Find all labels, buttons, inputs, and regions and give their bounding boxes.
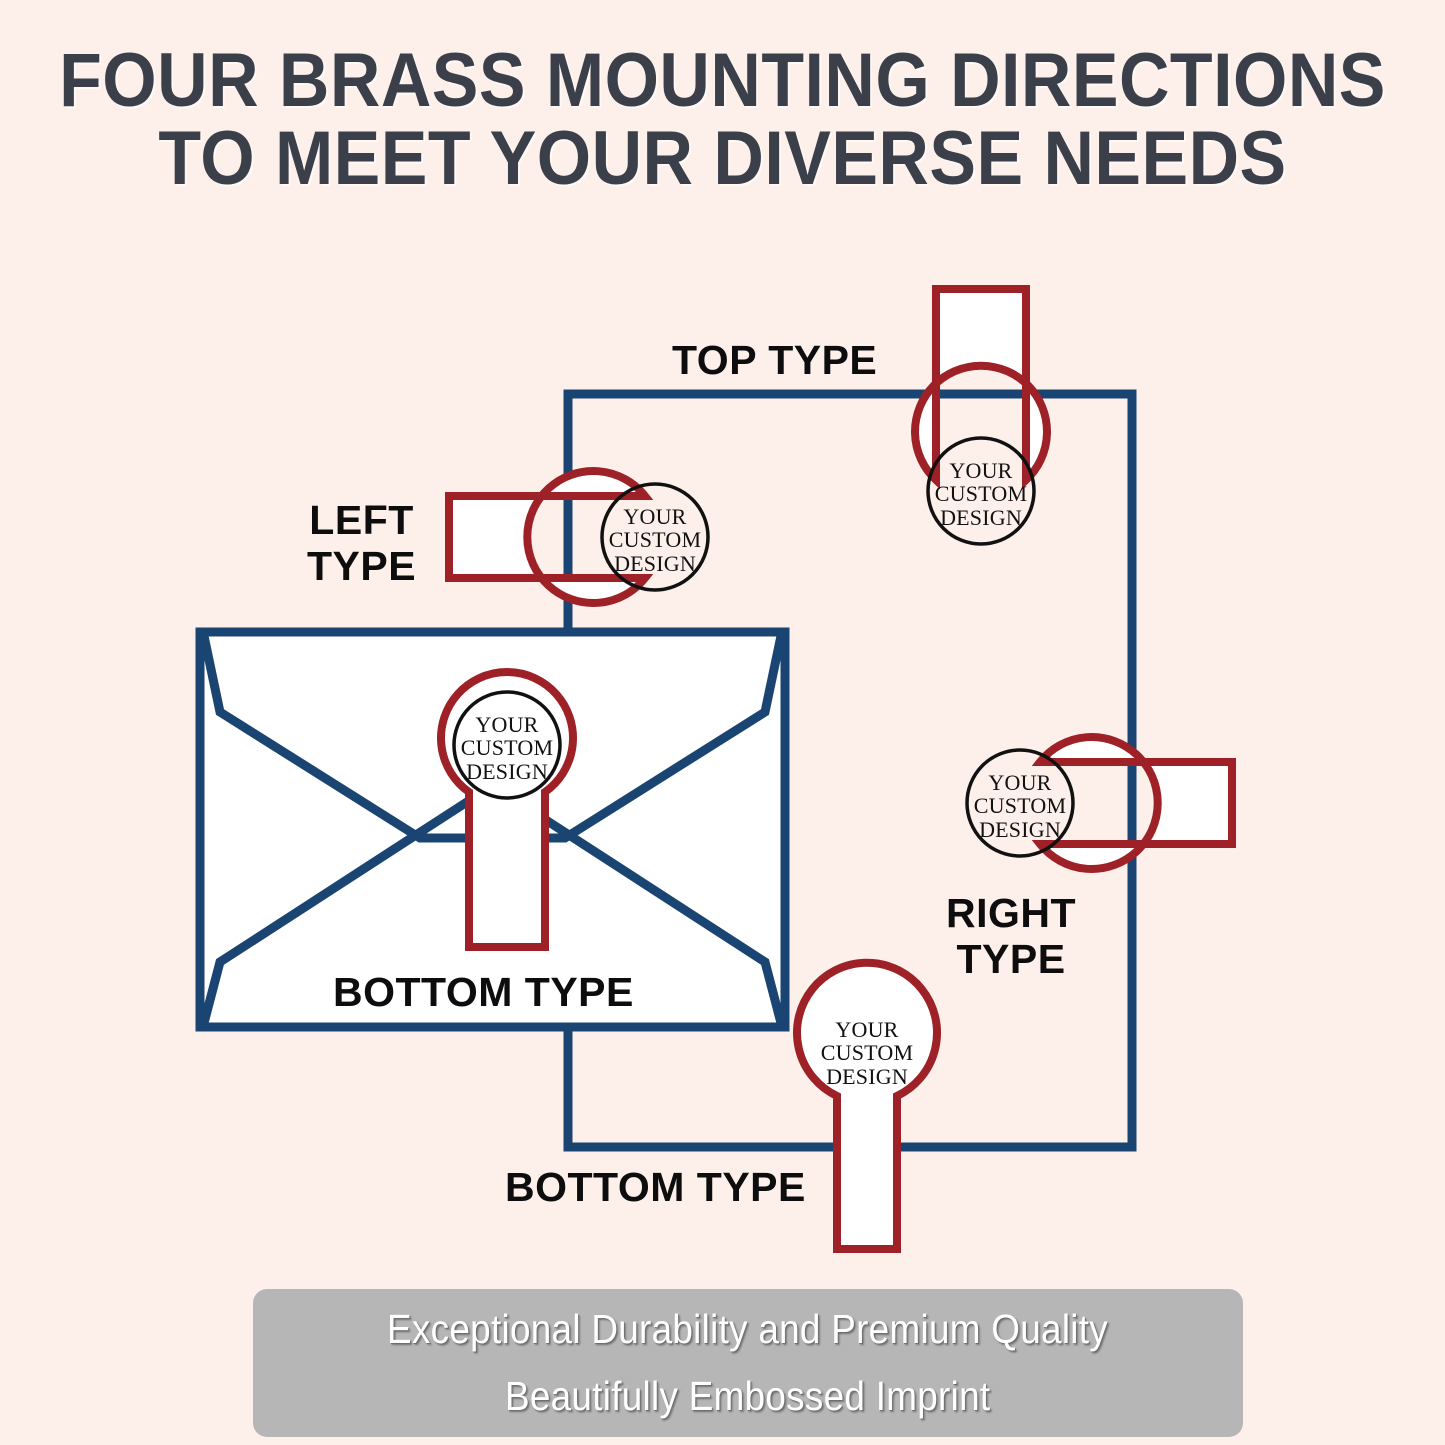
label-bottom-type-envelope-line-1: BOTTOM TYPE [333,970,634,1016]
label-top-type-line-1: TOP TYPE [672,338,877,384]
label-top-type: TOP TYPE [672,338,877,384]
right-stamp[interactable] [967,737,1232,869]
caption-line-2: Beautifully Embossed Imprint [505,1373,990,1420]
label-bottom-type-outer-line-1: BOTTOM TYPE [505,1165,806,1211]
label-bottom-type-envelope: BOTTOM TYPE [333,970,634,1016]
left-stamp[interactable] [449,471,708,603]
label-bottom-type-outer: BOTTOM TYPE [505,1165,806,1211]
mounting-directions-diagram [0,0,1445,1445]
left-stamp-inner-ring [602,484,708,590]
label-right-type: RIGHT TYPE [946,891,1076,983]
left-stamp-shape [449,471,645,603]
top-stamp[interactable] [915,289,1047,544]
top-stamp-inner-ring [928,438,1034,544]
label-left-type-line-2: TYPE [307,544,416,590]
label-right-type-line-2: TYPE [946,937,1076,983]
bottom-stamp-shape [797,963,937,1249]
caption-line-1: Exceptional Durability and Premium Quali… [388,1306,1109,1353]
caption-banner: Exceptional Durability and Premium Quali… [253,1289,1243,1437]
right-stamp-inner-ring [967,750,1073,856]
top-stamp-shape [915,289,1047,480]
label-right-type-line-1: RIGHT [946,891,1076,937]
label-left-type: LEFT TYPE [307,498,416,590]
poster-canvas: FOUR BRASS MOUNTING DIRECTIONS TO MEET Y… [0,0,1445,1445]
label-left-type-line-1: LEFT [307,498,416,544]
bottom-stamp[interactable] [797,963,937,1249]
